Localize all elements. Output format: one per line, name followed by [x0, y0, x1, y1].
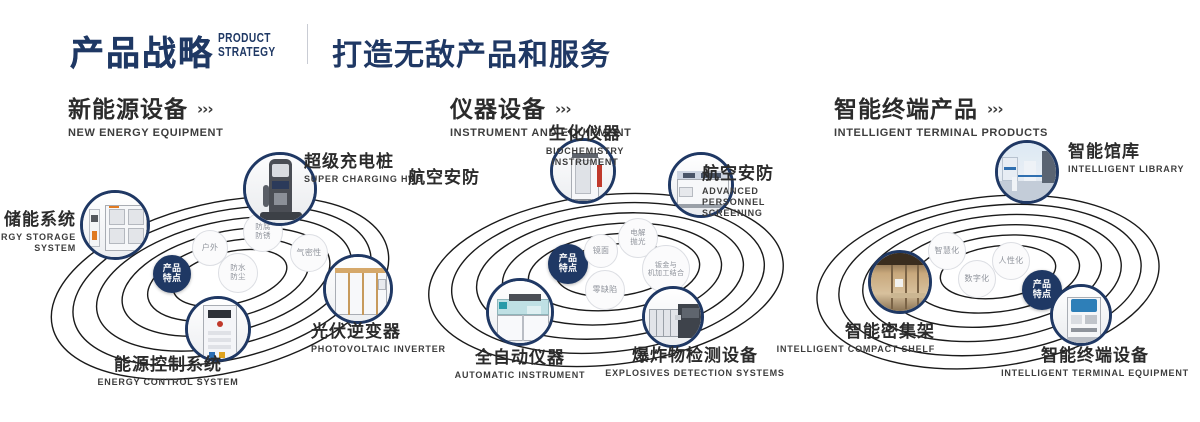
section-title-en: INTELLIGENT TERMINAL PRODUCTS [834, 127, 1048, 139]
section-title-cn: 新能源设备››› [68, 96, 223, 123]
node-label-biochemistry-instrument: 生化仪器 BIOCHEMISTRY INSTRUMENT [530, 146, 640, 168]
self-service-kiosk-icon [1053, 287, 1109, 343]
brand-title-en: PRODUCT STRATEGY [218, 31, 280, 59]
node-label-energy-storage-system: 储能系统 ENERGY STORAGE SYSTEM [0, 210, 76, 254]
node-label-energy-control-system: 能源控制系统 ENERGY CONTROL SYSTEM [68, 355, 268, 388]
core-bubble-product-features: 产品 特点 [548, 244, 588, 284]
node-explosives-detection[interactable] [642, 286, 704, 348]
energy-storage-cabinet-icon [83, 193, 147, 257]
section-title-cn: 仪器设备››› [450, 96, 631, 123]
control-cabinet-icon [188, 299, 248, 359]
node-energy-storage-system[interactable] [80, 190, 150, 260]
core-bubble-product-features: 产品 特点 [153, 255, 191, 293]
page-header: 产品战略 PRODUCT STRATEGY 打造无敌产品和服务 [0, 0, 1200, 86]
feature-bubble-mirror-finish: 镜面 [584, 234, 618, 268]
node-energy-control-system[interactable] [185, 296, 251, 362]
section-heading-new-energy: 新能源设备››› NEW ENERGY EQUIPMENT [68, 96, 223, 139]
page-headline: 打造无敌产品和服务 [332, 30, 611, 74]
diagram-intelligent-terminal: 智慧化 数字化 人性化 产品 特点 智能馆库 INTELLIGENT LIBRA… [810, 150, 1200, 410]
chevron-right-icon: ››› [987, 96, 1003, 122]
node-label-intelligent-terminal-equipment: 智能终端设备 INTELLIGENT TERMINAL EQUIPMENT [990, 346, 1200, 379]
node-photovoltaic-inverter[interactable] [323, 254, 393, 324]
node-intelligent-terminal-equipment[interactable] [1050, 284, 1112, 346]
pv-inverter-cabinet-icon [326, 257, 390, 321]
feature-bubble-zero-defect: 零缺陷 [585, 270, 625, 310]
feature-bubble-waterproof-dustproof: 防水防尘 [218, 253, 258, 293]
explosive-detector-icon [645, 289, 701, 345]
brand-en-line-2: STRATEGY [218, 45, 280, 59]
node-label-aviation-security-left: 航空安防 [400, 168, 480, 188]
header-divider [307, 24, 308, 64]
section-title-cn: 智能终端产品››› [834, 96, 1048, 123]
brand-title-cn: 产品战略 [70, 26, 214, 75]
brand-en-line-1: PRODUCT [218, 31, 280, 45]
chevron-right-icon: ››› [555, 96, 571, 122]
node-label-advanced-personnel-screening: 航空安防 ADVANCED PERSONNEL SCREENING [702, 164, 794, 219]
node-intelligent-library[interactable] [995, 140, 1059, 204]
diagram-instrument: 产品 特点 镜面 电解抛光 钣金与机加工结合 零缺陷 航空安防 生化仪器 [420, 150, 810, 410]
diagram-new-energy: 产品 特点 户外 防腐防锈 防水防尘 气密性 [40, 150, 420, 410]
compact-shelf-icon [871, 253, 929, 311]
automatic-analyzer-icon [489, 281, 551, 343]
section-heading-intelligent-terminal: 智能终端产品››› INTELLIGENT TERMINAL PRODUCTS [834, 96, 1048, 139]
section-title-en: NEW ENERGY EQUIPMENT [68, 127, 223, 139]
feature-bubble-digital: 数字化 [958, 260, 996, 298]
chevron-right-icon: ››› [197, 96, 213, 122]
library-interior-icon [998, 143, 1056, 201]
node-label-intelligent-library: 智能馆库 INTELLIGENT LIBRARY [1068, 142, 1184, 175]
feature-bubble-humanized: 人性化 [992, 242, 1030, 280]
node-automatic-instrument[interactable] [486, 278, 554, 346]
node-intelligent-compact-shelf[interactable] [868, 250, 932, 314]
node-label-intelligent-compact-shelf: 智能密集架 INTELLIGENT COMPACT SHELF [750, 322, 935, 355]
feature-bubble-intelligent: 智慧化 [928, 232, 966, 270]
feature-bubble-airtightness: 气密性 [290, 234, 328, 272]
node-label-automatic-instrument: 全自动仪器 AUTOMATIC INSTRUMENT [430, 348, 610, 381]
